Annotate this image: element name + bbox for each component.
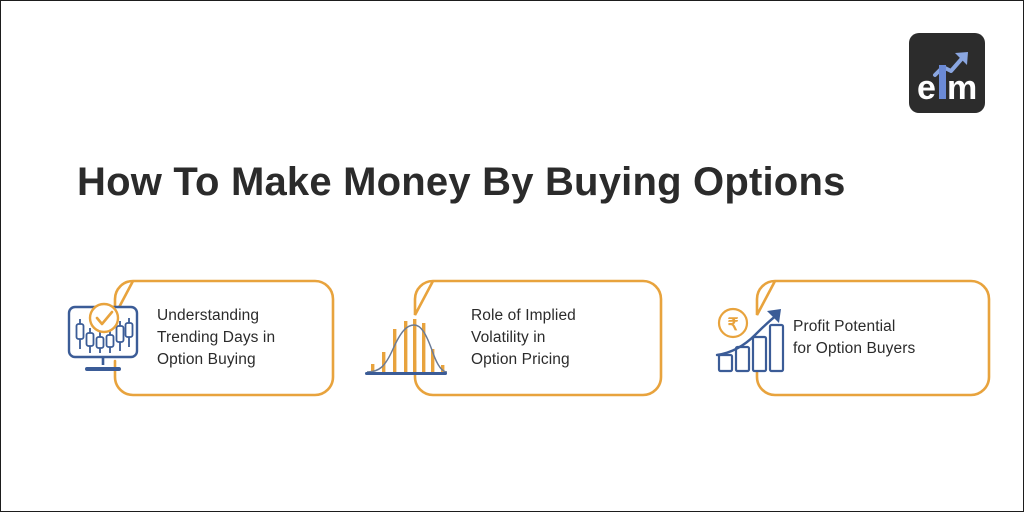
growth-bars-rupee-icon: ₹ <box>711 303 791 377</box>
rupee-symbol: ₹ <box>728 315 739 334</box>
feature-card-understanding-trending-days[interactable]: Understanding Trending Days in Option Bu… <box>63 279 335 397</box>
card-label: Profit Potential for Option Buyers <box>793 316 993 360</box>
feature-card-profit-potential[interactable]: ₹ Profit Potential for Option Buyers <box>705 279 991 397</box>
logo-bar <box>939 65 946 99</box>
card-label: Understanding Trending Days in Option Bu… <box>157 305 357 371</box>
elm-logo[interactable]: e m <box>909 33 985 113</box>
feature-card-role-of-implied-volatility[interactable]: Role of Implied Volatility in Option Pri… <box>363 279 663 397</box>
feature-card-row: Understanding Trending Days in Option Bu… <box>1 279 1024 399</box>
card-label: Role of Implied Volatility in Option Pri… <box>471 305 661 371</box>
logo-letter-e: e <box>917 69 936 107</box>
logo-letter-m: m <box>947 69 977 107</box>
monitor-candlestick-check-icon <box>63 301 145 377</box>
page-title: How To Make Money By Buying Options <box>77 159 977 205</box>
bell-curve-bars-icon <box>363 307 449 379</box>
infographic-canvas: e m How To Make Money By Buying Options <box>0 0 1024 512</box>
